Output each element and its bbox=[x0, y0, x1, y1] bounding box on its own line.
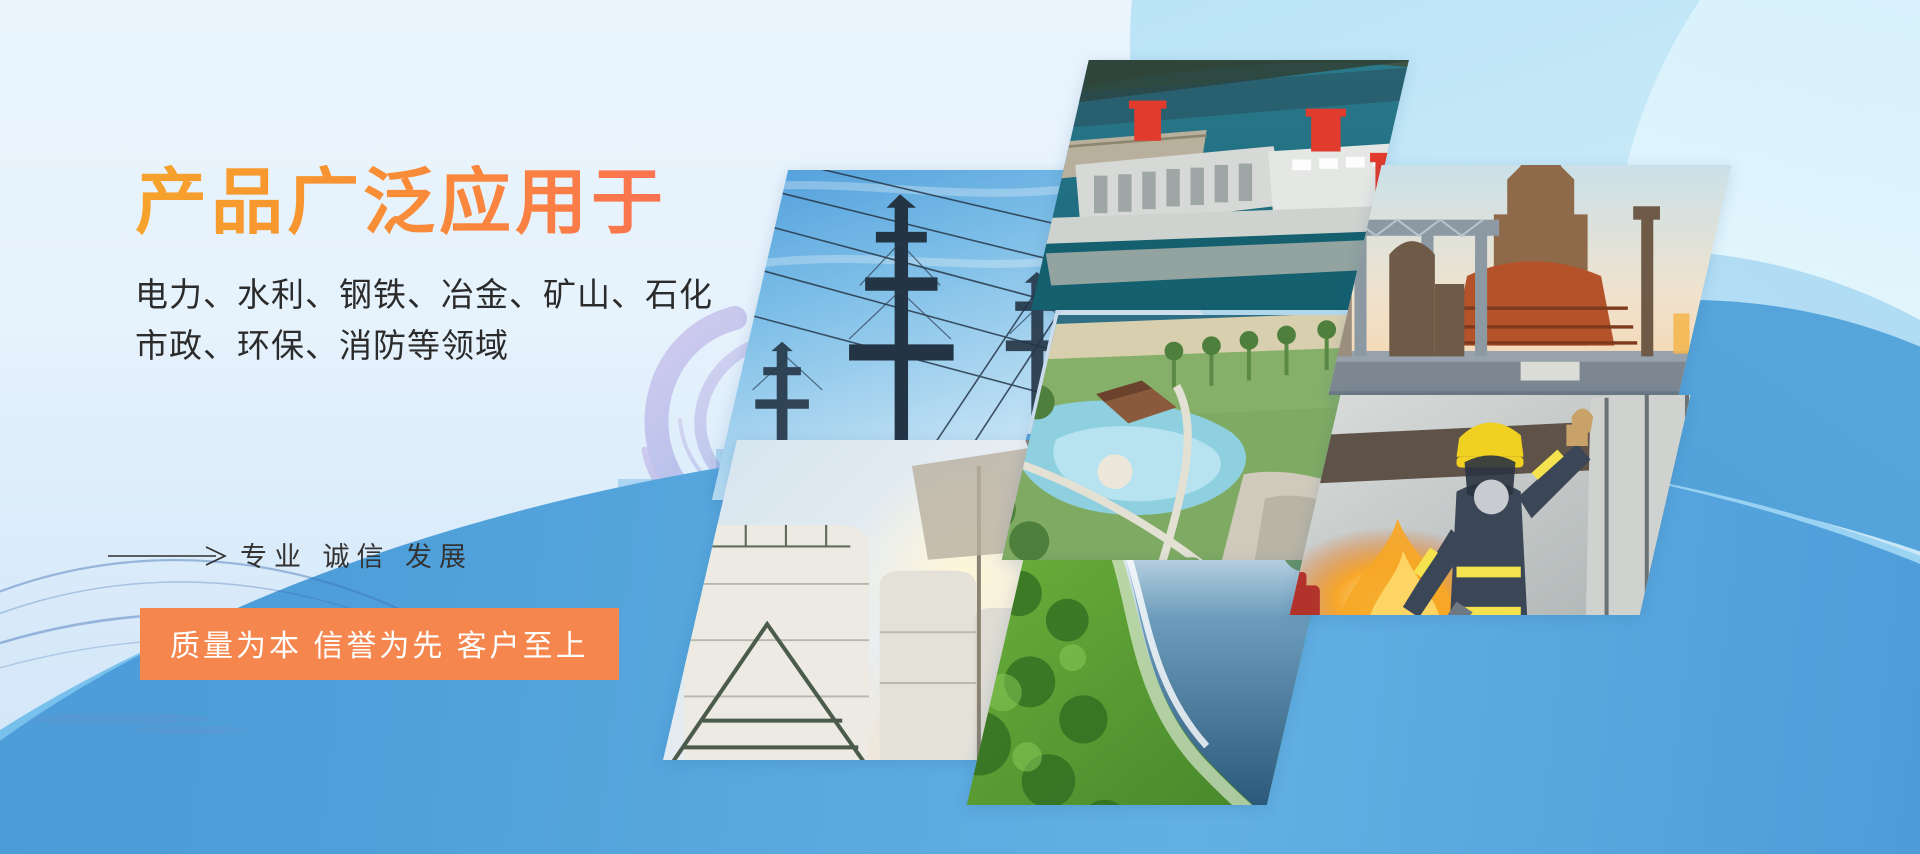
pledge-banner: 质量为本 信誉为先 客户至上 bbox=[140, 608, 619, 680]
industry-list-line-2: 市政、环保、消防等领域 bbox=[135, 320, 855, 371]
collage-tile-steel-metallurgy-plant[interactable] bbox=[1328, 165, 1731, 395]
slogan-row: 专业 诚信 发展 bbox=[108, 535, 473, 574]
page-title: 产品广泛应用于 bbox=[135, 165, 855, 243]
product-application-banner: 6 产品广泛应用于 电力、水利、钢铁、冶金、矿山、石化 市政、环保、消防等领域 … bbox=[0, 0, 1920, 854]
industry-list: 电力、水利、钢铁、冶金、矿山、石化 市政、环保、消防等领域 bbox=[135, 269, 855, 371]
long-arrow-right-icon bbox=[108, 544, 230, 566]
collage-tile-river-forest-ecology[interactable] bbox=[967, 560, 1324, 805]
application-photo-collage: 6 bbox=[760, 40, 1920, 760]
industry-list-line-1: 电力、水利、钢铁、冶金、矿山、石化 bbox=[135, 269, 855, 320]
headline-block: 产品广泛应用于 电力、水利、钢铁、冶金、矿山、石化 市政、环保、消防等领域 bbox=[135, 165, 855, 371]
slogan-text: 专业 诚信 发展 bbox=[240, 535, 473, 574]
collage-tile-hydropower-dam[interactable] bbox=[1031, 60, 1409, 310]
collage-tile-firefighter-training[interactable]: 6 bbox=[1290, 395, 1691, 615]
